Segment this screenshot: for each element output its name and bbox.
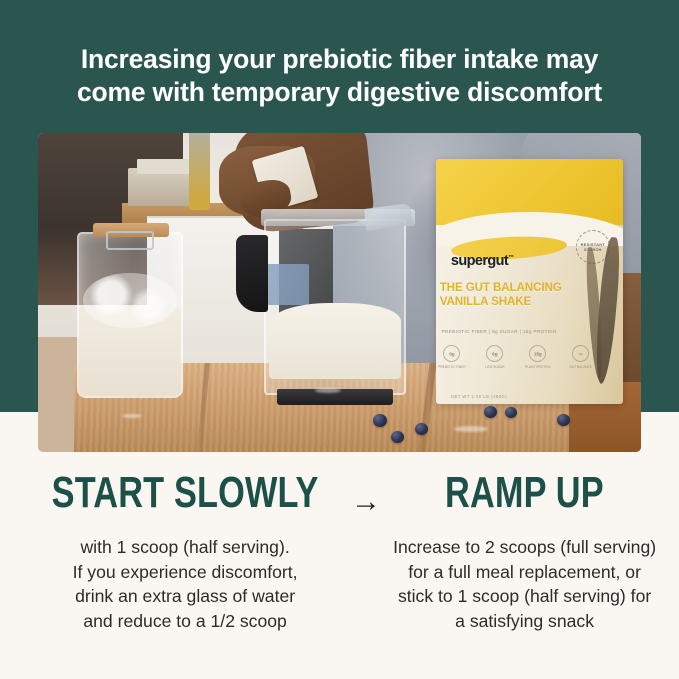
pouch-net-weight: NET WT 1.06 LB (480G)	[451, 394, 507, 399]
column-title-ramp-up: RAMP UP	[415, 470, 634, 516]
pendant-lamp	[189, 133, 210, 210]
books-stack-top	[137, 159, 191, 175]
blender-jar	[264, 219, 406, 394]
brand-name: supergut	[451, 253, 508, 269]
body-line: drink an extra glass of water	[40, 584, 330, 609]
fiber-icon-caption: PREBIOTIC FIBER	[438, 365, 465, 369]
sugar-icon-caption: LOW SUGAR	[485, 365, 504, 369]
infographic-root: Increasing your prebiotic fiber intake m…	[0, 0, 679, 679]
column-ramp-up: RAMP UP Increase to 2 scoops (full servi…	[370, 470, 679, 633]
glass-pitcher	[77, 232, 183, 398]
blender-powder	[269, 303, 401, 378]
blueberry	[391, 431, 404, 443]
product-title-line-2: VANILLA SHAKE	[440, 295, 597, 309]
balance-icon-caption: GUT BALANCE	[569, 365, 591, 369]
nutrition-summary: PREBIOTIC FIBER | 6g SUGAR | 15g PROTEIN	[442, 329, 557, 334]
column-start-slowly: START SLOWLY with 1 scoop (half serving)…	[0, 470, 370, 633]
fiber-icon-value: 6g	[449, 351, 454, 356]
sugar-icon-value: 6g	[492, 351, 497, 356]
product-pouch: supergut™ THE GUT BALANCING VANILLA SHAK…	[436, 159, 623, 405]
blueberry	[557, 414, 570, 426]
resistant-starch-badge: RESISTANT STARCH	[576, 230, 610, 264]
protein-icon: 15g PLANT PROTEIN	[529, 345, 546, 362]
arrow-right-icon: →	[340, 487, 392, 517]
blueberry	[373, 414, 387, 427]
fiber-icon: 6g PREBIOTIC FIBER	[443, 345, 460, 362]
body-line: Increase to 2 scoops (full serving)	[392, 535, 657, 560]
flour-dust	[122, 414, 142, 418]
protein-icon-caption: PLANT PROTEIN	[525, 365, 550, 369]
headline: Increasing your prebiotic fiber intake m…	[0, 43, 679, 109]
pitcher-clamp	[106, 231, 155, 250]
balance-icon: ∞ GUT BALANCE	[572, 345, 589, 362]
balance-icon-value: ∞	[579, 351, 582, 356]
body-line: If you experience discomfort,	[40, 560, 330, 585]
body-line: with 1 scoop (half serving).	[40, 535, 330, 560]
body-line: a satisfying snack	[392, 609, 657, 634]
brand-logo: supergut™	[451, 253, 514, 269]
product-title-line-1: THE GUT BALANCING	[440, 281, 597, 295]
blender-handle	[236, 235, 268, 312]
badge-line-2: STARCH	[584, 247, 602, 252]
column-body-ramp-up: Increase to 2 scoops (full serving) for …	[384, 535, 665, 633]
headline-line-1: Increasing your prebiotic fiber intake m…	[0, 43, 679, 76]
protein-icon-value: 15g	[534, 351, 542, 356]
product-title: THE GUT BALANCING VANILLA SHAKE	[440, 281, 597, 308]
headline-line-2: come with temporary digestive discomfort	[0, 76, 679, 109]
sugar-icon: 6g LOW SUGAR	[486, 345, 503, 362]
hero-photo: supergut™ THE GUT BALANCING VANILLA SHAK…	[38, 133, 641, 452]
pouch-yellow-top	[436, 159, 623, 225]
pitcher-foam	[83, 273, 176, 328]
pouch-icon-row: 6g PREBIOTIC FIBER 6g LOW SUGAR 15g PLAN…	[443, 345, 589, 377]
body-line: for a full meal replacement, or	[392, 560, 657, 585]
column-title-start-slowly: START SLOWLY	[52, 470, 319, 516]
blueberry	[484, 406, 497, 418]
trademark-symbol: ™	[508, 255, 513, 261]
body-line: and reduce to a 1/2 scoop	[40, 609, 330, 634]
body-line: stick to 1 scoop (half serving) for	[392, 584, 657, 609]
column-body-start-slowly: with 1 scoop (half serving). If you expe…	[14, 535, 356, 633]
photo-scene: supergut™ THE GUT BALANCING VANILLA SHAK…	[38, 133, 641, 452]
